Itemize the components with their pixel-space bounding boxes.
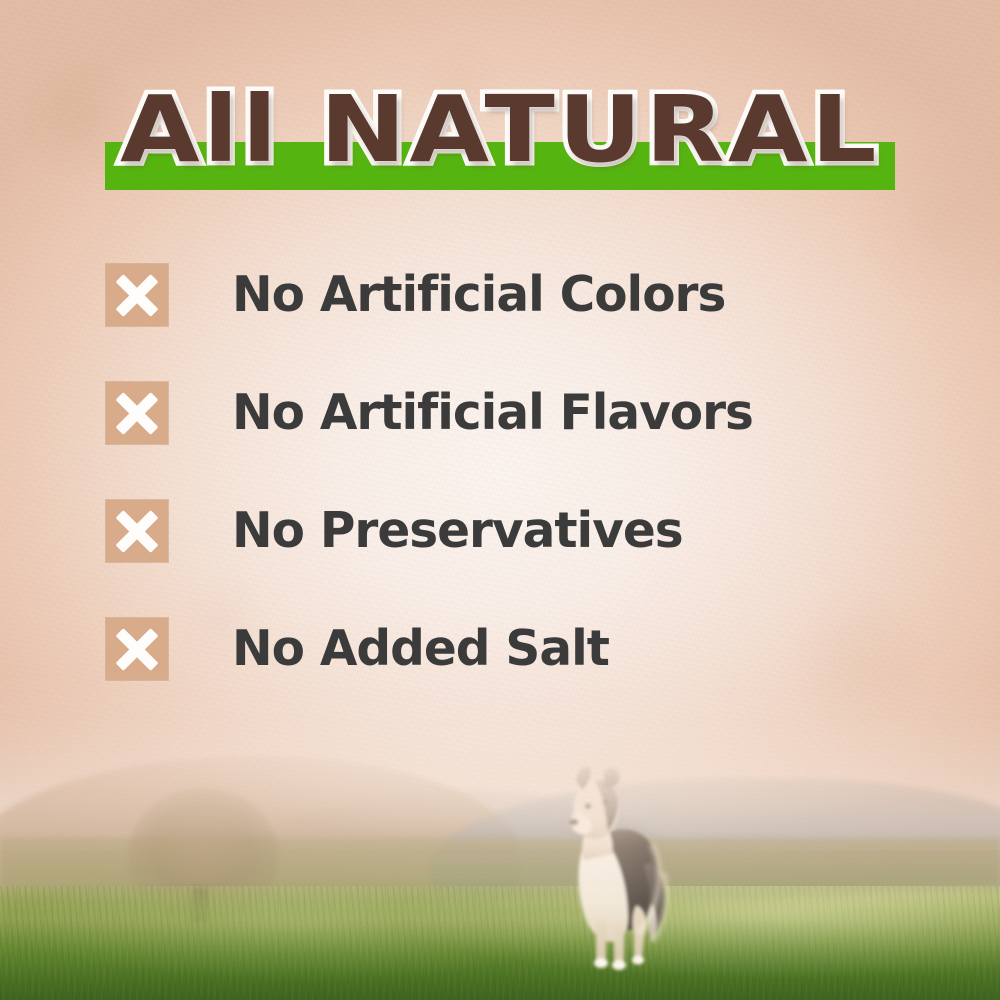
dog-photo: [538, 754, 688, 976]
claim-label: No Artificial Colors: [232, 264, 725, 326]
claim-label: No Preservatives: [232, 500, 683, 562]
claims-list: No Artificial Colors No Artificial Flavo…: [106, 264, 926, 680]
grass-field: [0, 886, 1000, 1000]
dog-illustration: [538, 754, 688, 976]
headline-block: All NATURAL: [0, 74, 1000, 194]
grass-shadow: [0, 880, 1000, 1000]
poster-canvas: All NATURAL No Artificial Colors No Arti…: [0, 0, 1000, 1000]
x-mark-icon: [106, 264, 168, 326]
landscape-photo: [0, 670, 1000, 1000]
claim-row: No Preservatives: [106, 500, 926, 562]
x-mark-icon: [106, 382, 168, 444]
headline-text: All NATURAL: [0, 74, 1000, 186]
claim-label: No Artificial Flavors: [232, 382, 753, 444]
x-mark-icon: [106, 500, 168, 562]
claim-row: No Artificial Flavors: [106, 382, 926, 444]
claim-row: No Artificial Colors: [106, 264, 926, 326]
